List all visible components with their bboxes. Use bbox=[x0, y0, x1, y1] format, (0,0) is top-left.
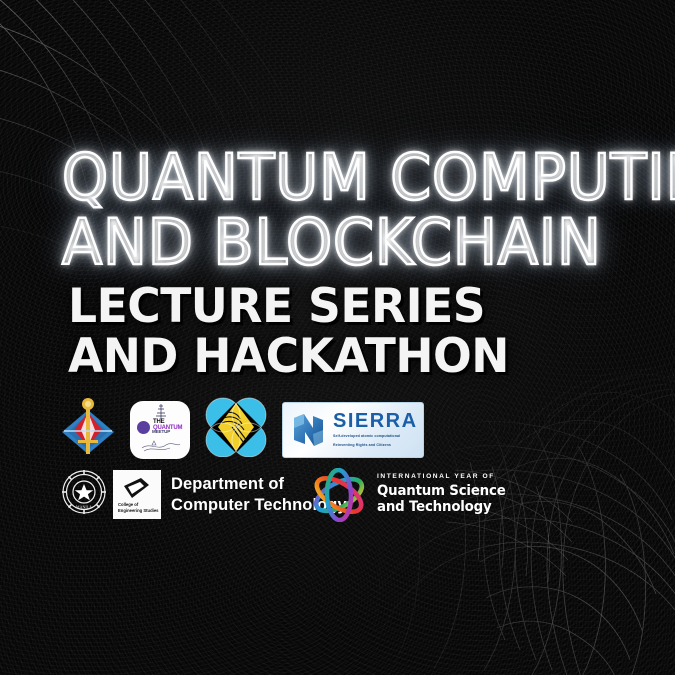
university-seal-logo: MANILA bbox=[60, 468, 108, 521]
iyq-line-2: and Technology bbox=[377, 499, 506, 515]
sierra-logo: SIERRA Self-developed atomic computation… bbox=[282, 402, 424, 458]
university-crest-logo bbox=[60, 396, 116, 463]
college-caption-1: College of bbox=[118, 502, 138, 507]
sponsor-logo-row-top: THEQUANTUM MEETUP bbox=[60, 396, 424, 463]
subtitle-line-1: LECTURE SERIES bbox=[68, 283, 509, 331]
poster-canvas: QUANTUM COMPUTING AND BLOCKCHAIN LECTURE… bbox=[0, 0, 675, 675]
sponsor-logo-row-bottom: MANILA College of Engineering Studies De… bbox=[60, 468, 347, 521]
sierra-tagline-1: Self-developed atomic computational bbox=[333, 434, 418, 439]
svg-text:MANILA: MANILA bbox=[76, 505, 92, 510]
headline-line-1: QUANTUM COMPUTING bbox=[62, 148, 642, 208]
college-caption-2: Engineering Studies bbox=[118, 508, 159, 513]
headline-line-2: AND BLOCKCHAIN bbox=[62, 213, 642, 273]
college-of-engineering-studies-logo: College of Engineering Studies bbox=[113, 470, 161, 519]
meetup-mark bbox=[137, 421, 150, 434]
iyq-line-1: Quantum Science bbox=[377, 483, 506, 499]
quantum-meetup-logo: THEQUANTUM MEETUP bbox=[130, 401, 190, 459]
subtitle: LECTURE SERIES AND HACKATHON bbox=[68, 283, 523, 381]
sierra-tagline-2: Reinventing Rights and Citizens bbox=[333, 443, 418, 448]
meetup-subtitle: MEETUP bbox=[152, 429, 170, 434]
iyq-atom-icon bbox=[310, 468, 368, 522]
headline: QUANTUM COMPUTING AND BLOCKCHAIN bbox=[62, 148, 642, 274]
quatrefoil-logo bbox=[204, 397, 268, 462]
international-year-of-quantum-logo: INTERNATIONAL YEAR OF Quantum Science an… bbox=[310, 468, 517, 522]
subtitle-line-2: AND HACKATHON bbox=[68, 333, 509, 381]
iyq-eyebrow: INTERNATIONAL YEAR OF bbox=[377, 474, 517, 481]
sierra-wordmark: SIERRA bbox=[333, 411, 418, 431]
